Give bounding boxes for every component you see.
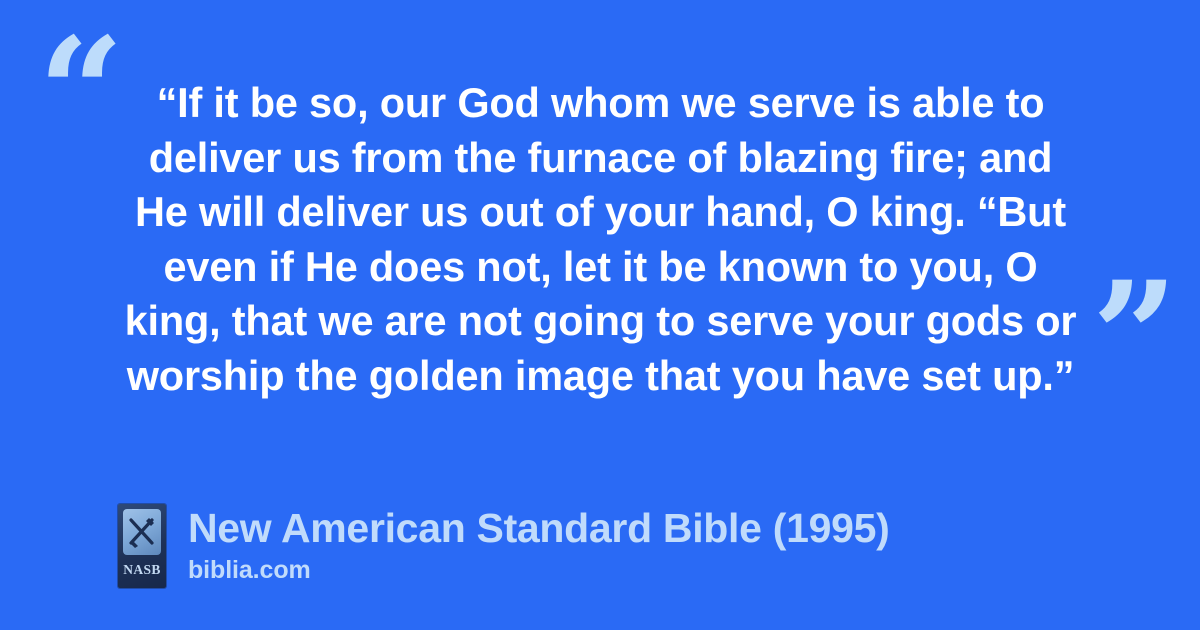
nasb-logo: NASB bbox=[118, 504, 166, 588]
quote-line: king, that we are not going to serve you… bbox=[108, 294, 1093, 349]
attribution-text: New American Standard Bible (1995) bibli… bbox=[188, 504, 889, 585]
close-quote-decoration-icon: ” bbox=[1092, 262, 1178, 412]
quote-card: “ “If it be so, our God whom we serve is… bbox=[0, 0, 1200, 630]
quote-line: deliver us from the furnace of blazing f… bbox=[108, 131, 1093, 186]
quote-text-block: “If it be so, our God whom we serve is a… bbox=[108, 76, 1093, 403]
quote-line: He will deliver us out of your hand, O k… bbox=[108, 185, 1093, 240]
nasb-emblem-icon bbox=[123, 509, 161, 555]
attribution: NASB New American Standard Bible (1995) … bbox=[118, 504, 889, 588]
quote-line: even if He does not, let it be known to … bbox=[108, 240, 1093, 295]
source-site-label[interactable]: biblia.com bbox=[188, 555, 889, 585]
bible-version-title: New American Standard Bible (1995) bbox=[188, 504, 889, 552]
quote-line: “If it be so, our God whom we serve is a… bbox=[108, 76, 1093, 131]
quote-line: worship the golden image that you have s… bbox=[108, 349, 1093, 404]
nasb-logo-label: NASB bbox=[123, 563, 161, 577]
